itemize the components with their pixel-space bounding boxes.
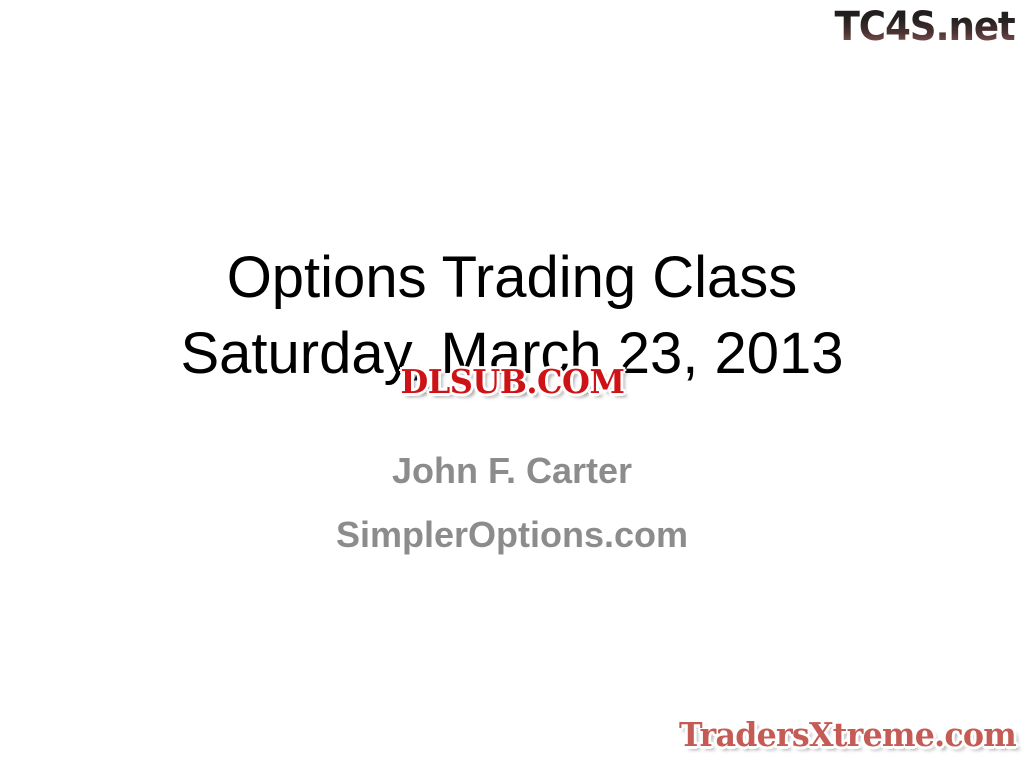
title-line-1: Options Trading Class [0, 240, 1024, 316]
slide-subtitle: John F. Carter SimplerOptions.com [0, 440, 1024, 568]
title-line-2: Saturday, March 23, 2013 [0, 316, 1024, 392]
presentation-slide: TC4S.net Options Trading Class Saturday,… [0, 0, 1024, 768]
tradersxtreme-logo: TradersXtreme.com [666, 710, 1016, 760]
tradersxtreme-wordmark-text: TradersXtreme.com [679, 716, 1016, 754]
slide-title: Options Trading Class Saturday, March 23… [0, 240, 1024, 392]
presenter-website: SimplerOptions.com [0, 502, 1024, 568]
tc4s-logo: TC4S.net [830, 2, 1015, 52]
tc4s-wordmark-text: TC4S.net [835, 5, 1015, 49]
presenter-name: John F. Carter [0, 440, 1024, 502]
